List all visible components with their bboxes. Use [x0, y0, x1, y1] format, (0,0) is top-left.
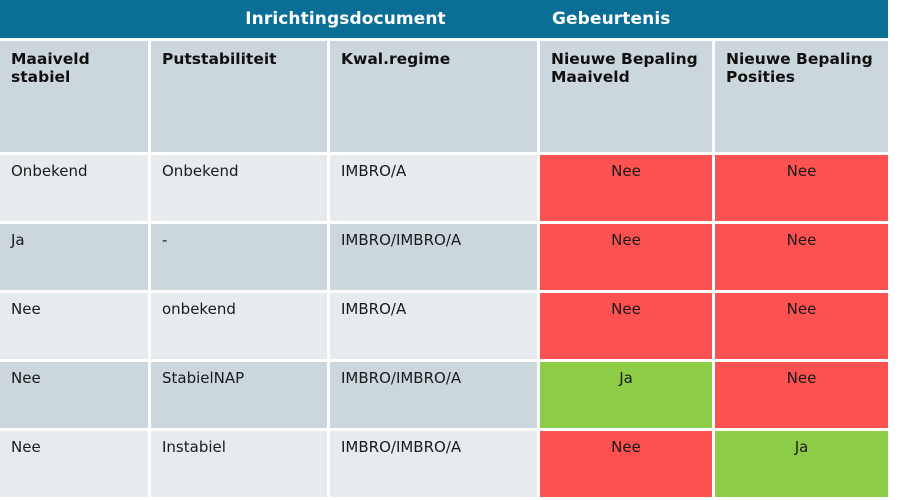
cell-putstabiliteit: Instabiel	[151, 431, 330, 500]
cell-putstabiliteit: Onbekend	[151, 155, 330, 224]
cell-nieuwe-bepaling-posities: Nee	[715, 293, 888, 362]
cell-nieuwe-bepaling-maaiveld: Nee	[540, 293, 715, 362]
table-row: Nee Instabiel IMBRO/IMBRO/A Nee Ja	[0, 431, 888, 500]
table-body: Onbekend Onbekend IMBRO/A Nee Nee Ja - I…	[0, 155, 888, 500]
group-header-empty	[0, 0, 151, 41]
cell-nieuwe-bepaling-posities: Nee	[715, 362, 888, 431]
cell-maaiveld-stabiel: Onbekend	[0, 155, 151, 224]
group-header-row: Inrichtingsdocument Gebeurtenis	[0, 0, 888, 41]
column-header-nieuwe-bepaling-posities: Nieuwe Bepaling Posities	[715, 41, 888, 155]
column-header-putstabiliteit: Putstabiliteit	[151, 41, 330, 155]
cell-putstabiliteit: -	[151, 224, 330, 293]
column-header-row: Maaiveld stabiel Putstabiliteit Kwal.reg…	[0, 41, 888, 155]
cell-nieuwe-bepaling-maaiveld: Nee	[540, 431, 715, 500]
cell-kwal-regime: IMBRO/IMBRO/A	[330, 224, 540, 293]
decision-matrix-container: Inrichtingsdocument Gebeurtenis Maaiveld…	[0, 0, 900, 453]
cell-kwal-regime: IMBRO/A	[330, 293, 540, 362]
cell-nieuwe-bepaling-posities: Ja	[715, 431, 888, 500]
cell-kwal-regime: IMBRO/IMBRO/A	[330, 362, 540, 431]
cell-nieuwe-bepaling-maaiveld: Nee	[540, 155, 715, 224]
cell-kwal-regime: IMBRO/IMBRO/A	[330, 431, 540, 500]
group-header-gebeurtenis: Gebeurtenis	[540, 0, 888, 41]
cell-nieuwe-bepaling-posities: Nee	[715, 155, 888, 224]
table-header: Inrichtingsdocument Gebeurtenis Maaiveld…	[0, 0, 888, 155]
column-header-nieuwe-bepaling-maaiveld: Nieuwe Bepaling Maaiveld	[540, 41, 715, 155]
cell-nieuwe-bepaling-maaiveld: Ja	[540, 362, 715, 431]
cell-kwal-regime: IMBRO/A	[330, 155, 540, 224]
cell-maaiveld-stabiel: Ja	[0, 224, 151, 293]
table-row: Nee onbekend IMBRO/A Nee Nee	[0, 293, 888, 362]
column-header-maaiveld-stabiel: Maaiveld stabiel	[0, 41, 151, 155]
decision-matrix-table: Inrichtingsdocument Gebeurtenis Maaiveld…	[0, 0, 888, 500]
column-header-kwal-regime: Kwal.regime	[330, 41, 540, 155]
cell-putstabiliteit: StabielNAP	[151, 362, 330, 431]
cell-nieuwe-bepaling-posities: Nee	[715, 224, 888, 293]
cell-putstabiliteit: onbekend	[151, 293, 330, 362]
cell-maaiveld-stabiel: Nee	[0, 431, 151, 500]
cell-maaiveld-stabiel: Nee	[0, 362, 151, 431]
cell-nieuwe-bepaling-maaiveld: Nee	[540, 224, 715, 293]
table-row: Nee StabielNAP IMBRO/IMBRO/A Ja Nee	[0, 362, 888, 431]
group-header-inrichtingsdocument: Inrichtingsdocument	[151, 0, 540, 41]
table-row: Onbekend Onbekend IMBRO/A Nee Nee	[0, 155, 888, 224]
cell-maaiveld-stabiel: Nee	[0, 293, 151, 362]
table-row: Ja - IMBRO/IMBRO/A Nee Nee	[0, 224, 888, 293]
